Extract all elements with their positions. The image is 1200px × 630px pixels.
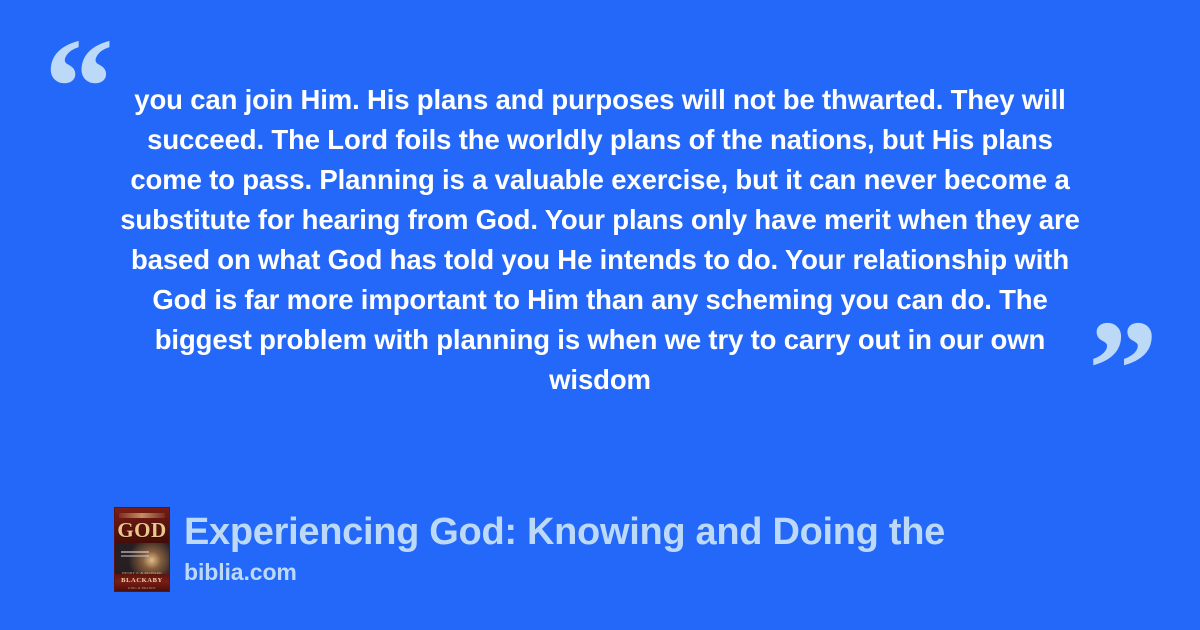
cover-author-kicker: HENRY T. & RICHARD — [115, 571, 169, 575]
cover-author-tail: KING & BRANDT — [115, 586, 169, 590]
book-cover-thumbnail[interactable]: GOD HENRY T. & RICHARD BLACKABY KING & B… — [114, 507, 170, 592]
cover-author-name: BLACKABY — [115, 577, 169, 584]
cover-subtitle-lines — [121, 551, 149, 559]
opening-quote-icon: “ — [44, 18, 114, 158]
footer-text-block: Experiencing God: Knowing and Doing the … — [184, 507, 945, 587]
book-title[interactable]: Experiencing God: Knowing and Doing the — [184, 509, 945, 555]
cover-main-title: GOD — [115, 520, 169, 541]
footer: GOD HENRY T. & RICHARD BLACKABY KING & B… — [114, 507, 945, 592]
quote-card: “ you can join Him. His plans and purpos… — [0, 0, 1200, 630]
quote-text: you can join Him. His plans and purposes… — [108, 80, 1092, 400]
closing-quote-icon: ” — [1088, 300, 1158, 440]
site-name[interactable]: biblia.com — [184, 557, 945, 587]
